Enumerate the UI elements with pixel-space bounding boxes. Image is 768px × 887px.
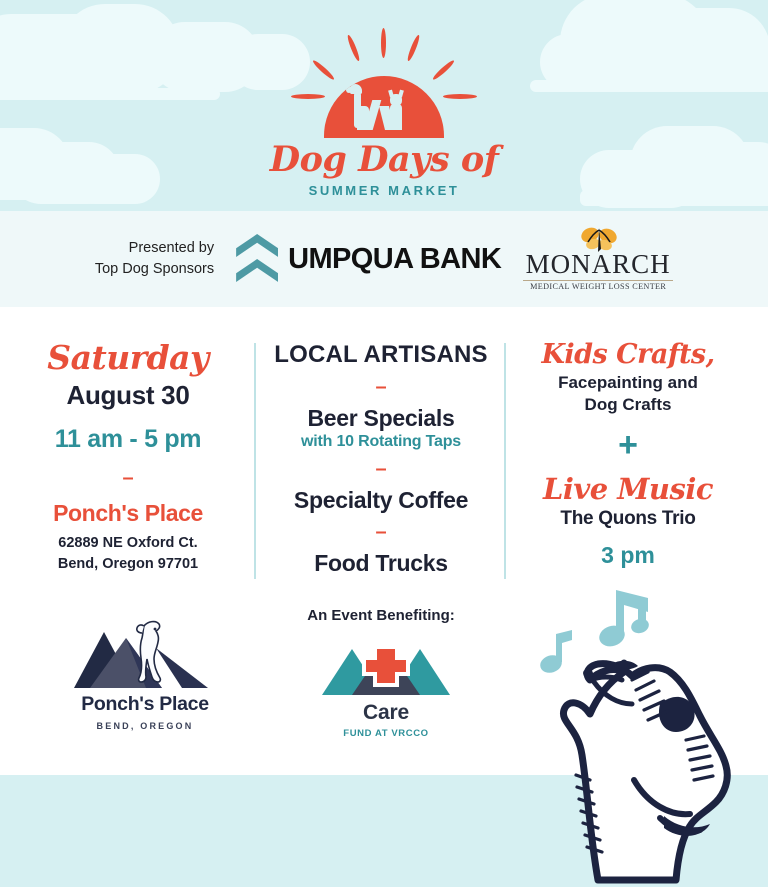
care-fund-tagline: FUND AT VRCCO [318, 728, 454, 739]
mid-separator-3: – [262, 522, 500, 542]
kids-crafts-sub-line2: Dog Crafts [512, 394, 744, 416]
attraction-beer: Beer Specials [262, 405, 500, 432]
event-time: 11 am - 5 pm [24, 425, 232, 454]
presented-by-line2: Top Dog Sponsors [95, 259, 214, 280]
ponchs-place-mountain-dog-icon [60, 612, 230, 688]
column-activities: Kids Crafts, Facepainting and Dog Crafts… [512, 307, 744, 569]
logo-subtitle: SUMMER MARKET [0, 183, 768, 198]
sponsor-band: Presented by Top Dog Sponsors UMPQUA BAN… [0, 211, 768, 307]
mid-separator-1: – [262, 377, 500, 397]
benefiting-label: An Event Benefiting: [262, 607, 500, 624]
monarch-tagline: MEDICAL WEIGHT LOSS CENTER [523, 280, 673, 291]
venue-name: Ponch's Place [24, 500, 232, 527]
attraction-coffee: Specialty Coffee [262, 487, 500, 514]
sponsor-umpqua-bank[interactable]: UMPQUA BANK [236, 232, 501, 286]
column-attractions: LOCAL ARTISANS – Beer Specials with 10 R… [262, 307, 500, 624]
poster: Dog Days of SUMMER MARKET Presented by T… [0, 0, 768, 887]
sky-header: Dog Days of SUMMER MARKET [0, 0, 768, 211]
mid-separator-2: – [262, 459, 500, 479]
plus-separator: + [512, 428, 744, 462]
attraction-beer-sub: with 10 Rotating Taps [262, 433, 500, 451]
attraction-food-trucks: Food Trucks [262, 550, 500, 577]
left-separator: – [24, 468, 232, 488]
column-divider-left [254, 343, 256, 579]
band-name: The Quons Trio [512, 508, 744, 530]
sun-icon [269, 28, 499, 138]
event-logo: Dog Days of SUMMER MARKET [0, 28, 768, 198]
care-fund-mountain-cross-icon [318, 625, 454, 697]
venue-address-line1: 62889 NE Oxford Ct. [24, 533, 232, 555]
presented-by-block: Presented by Top Dog Sponsors [95, 238, 214, 280]
event-date: August 30 [24, 380, 232, 411]
logo-title: Dog Days of [0, 142, 768, 179]
ponchs-place-location: BEND, OREGON [60, 721, 230, 731]
ponchs-place-logo: Ponch's Place BEND, OREGON [60, 612, 230, 731]
venue-address-line2: Bend, Oregon 97701 [24, 554, 232, 576]
music-time: 3 pm [512, 542, 744, 569]
umpqua-double-chevron-icon [236, 232, 278, 286]
kids-crafts-heading: Kids Crafts, [512, 341, 744, 369]
sponsor-monarch[interactable]: MONARCH MEDICAL WEIGHT LOSS CENTER [523, 227, 673, 291]
column-when-where: Saturday August 30 11 am - 5 pm – Ponch'… [24, 307, 232, 576]
presented-by-line1: Presented by [95, 238, 214, 259]
umpqua-bank-name: UMPQUA BANK [288, 243, 501, 276]
attractions-heading: LOCAL ARTISANS [262, 341, 500, 369]
music-notes-icon [528, 586, 658, 678]
care-fund-logo: Care FUND AT VRCCO [318, 625, 454, 739]
ponchs-place-name: Ponch's Place [60, 693, 230, 716]
care-fund-name: Care [318, 701, 454, 725]
column-divider-right [504, 343, 506, 579]
monarch-name: MONARCH [523, 251, 673, 278]
sun-half-disc [324, 76, 444, 138]
kids-crafts-sub-line1: Facepainting and [512, 372, 744, 394]
live-music-heading: Live Music [512, 474, 744, 504]
event-day: Saturday [24, 341, 232, 376]
monarch-butterfly-icon [523, 227, 673, 253]
